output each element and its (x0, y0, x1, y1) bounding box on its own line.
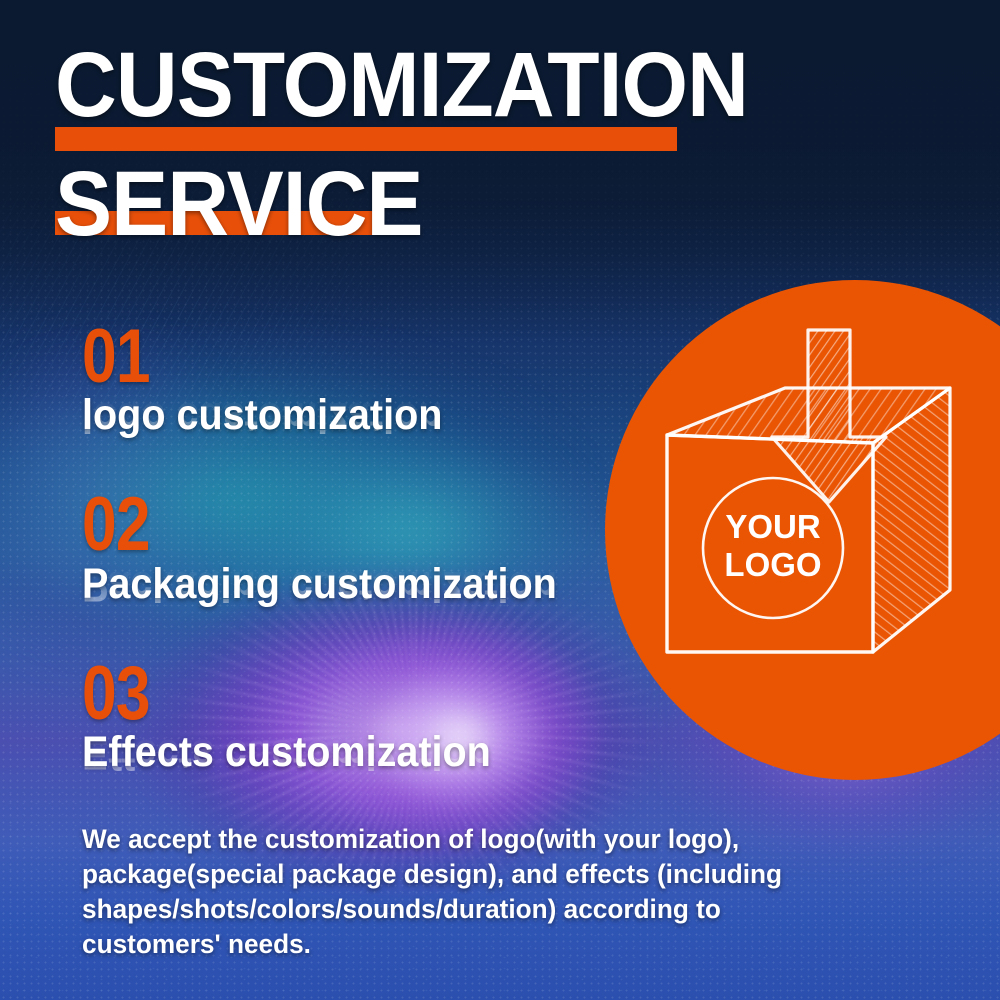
feature-item-02: 02 Packaging customization Packaging cus… (82, 494, 622, 640)
your-logo-line-1: YOUR (725, 508, 821, 545)
headline-line-2: SERVICE (55, 165, 706, 244)
feature-number-03: 03 (82, 663, 525, 725)
feature-title-wrap-01: logo customization logo customization (82, 394, 622, 472)
promo-banner: CUSTOMIZATION SERVICE 01 logo customizat… (0, 0, 1000, 1000)
your-logo-line-2: LOGO (724, 546, 821, 583)
custom-box-graphic: YOUR LOGO (605, 280, 1000, 780)
headline-line-2-wrap: SERVICE (55, 165, 755, 244)
feature-item-01: 01 logo customization logo customization (82, 326, 622, 472)
feature-title-02: Packaging customization (82, 563, 557, 606)
headline-line-1: CUSTOMIZATION (55, 46, 706, 125)
headline-block: CUSTOMIZATION SERVICE (55, 46, 755, 244)
feature-list: 01 logo customization logo customization… (82, 326, 622, 831)
your-logo-badge: YOUR LOGO (703, 478, 843, 618)
feature-item-03: 03 Effects customization Effects customi… (82, 663, 622, 809)
feature-title-01: logo customization (82, 394, 442, 437)
feature-title-wrap-03: Effects customization Effects customizat… (82, 731, 622, 809)
body-paragraph: We accept the customization of logo(with… (82, 822, 819, 962)
feature-number-02: 02 (82, 494, 525, 556)
feature-number-01: 01 (82, 326, 525, 388)
feature-title-wrap-02: Packaging customization Packaging custom… (82, 563, 622, 641)
feature-title-03: Effects customization (82, 731, 491, 774)
